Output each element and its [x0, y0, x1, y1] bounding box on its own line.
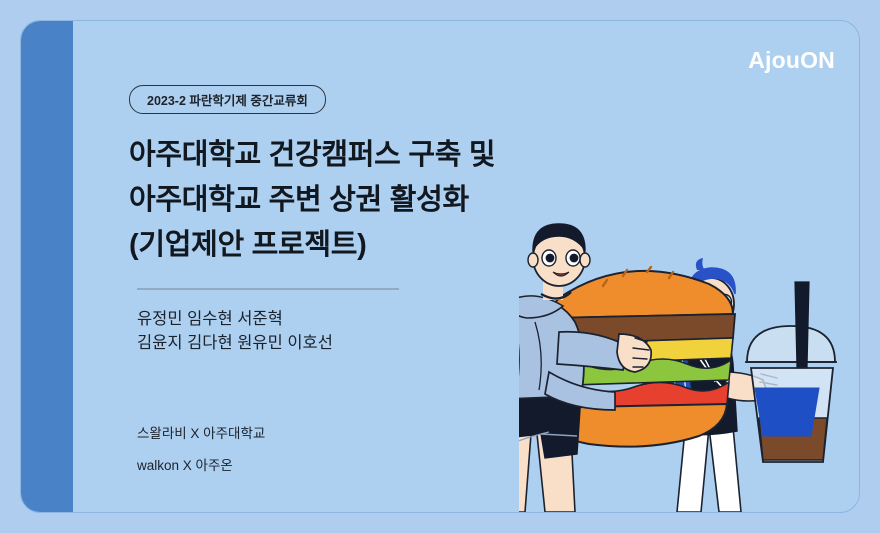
page-title: 아주대학교 건강캠퍼스 구축 및 아주대학교 주변 상권 활성화 (기업제안 프…	[129, 133, 495, 268]
partner-list: 스왈라비 X 아주대학교 walkon X 아주온	[137, 418, 265, 482]
illustration	[519, 222, 859, 512]
partner-line-1: 스왈라비 X 아주대학교	[137, 418, 265, 450]
iced-drink-cup	[745, 282, 837, 462]
event-badge-label: 2023-2 파란학기제 중간교류회	[147, 90, 308, 109]
partner-line-2: walkon X 아주온	[137, 450, 265, 482]
divider	[137, 288, 399, 290]
event-badge: 2023-2 파란학기제 중간교류회	[129, 85, 326, 114]
accent-band	[21, 21, 73, 513]
ajouon-logo: AjouON	[748, 47, 835, 74]
slide-root: AjouON 2023-2 파란학기제 중간교류회 아주대학교 건강캠퍼스 구축…	[0, 0, 880, 533]
slide-card: AjouON 2023-2 파란학기제 중간교류회 아주대학교 건강캠퍼스 구축…	[20, 20, 860, 513]
author-list: 유정민 임수현 서준혁 김윤지 김다현 원유민 이호선	[137, 307, 333, 355]
author-line-2: 김윤지 김다현 원유민 이호선	[137, 331, 333, 355]
author-line-1: 유정민 임수현 서준혁	[137, 307, 333, 331]
title-line-3: (기업제안 프로젝트)	[129, 223, 495, 268]
title-line-2: 아주대학교 주변 상권 활성화	[129, 178, 495, 223]
title-line-1: 아주대학교 건강캠퍼스 구축 및	[129, 133, 495, 178]
